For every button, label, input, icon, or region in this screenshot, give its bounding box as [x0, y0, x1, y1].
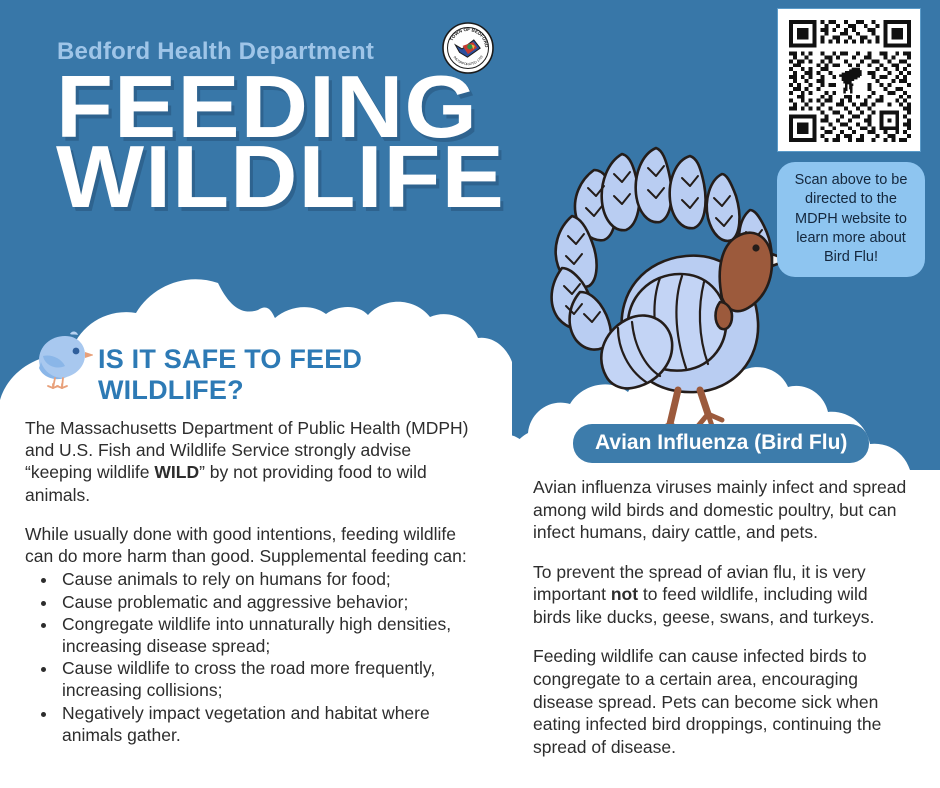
town-of-bedford-seal-icon: TOWN OF BEDFORD INCORPORATED 1729 [442, 22, 494, 74]
right-paragraph-2: To prevent the spread of avian flu, it i… [533, 561, 910, 629]
harm-list: Cause animals to rely on humans for food… [46, 568, 478, 746]
right-column: Avian Influenza (Bird Flu) Avian influen… [511, 424, 940, 758]
left-paragraph-1: The Massachusetts Department of Public H… [25, 417, 478, 506]
right-body: Avian influenza viruses mainly infect an… [533, 476, 910, 758]
dinosaur-icon [833, 66, 867, 96]
turkey-illustration-icon [510, 132, 790, 432]
right-paragraph-1: Avian influenza viruses mainly infect an… [533, 476, 910, 544]
qr-block: Scan above to be directed to the MDPH we… [777, 8, 925, 277]
list-item: Cause animals to rely on humans for food… [58, 568, 478, 590]
qr-scan-callout: Scan above to be directed to the MDPH we… [777, 162, 925, 277]
qr-frame [777, 8, 921, 152]
right-p2-bold: not [611, 584, 638, 604]
avian-influenza-badge: Avian Influenza (Bird Flu) [573, 424, 869, 463]
page-title: FEEDING WILDLIFE [56, 72, 501, 213]
left-column: IS IT SAFE TO FEED WILDLIFE? The Massach… [0, 318, 500, 746]
list-item: Congregate wildlife into unnaturally hig… [58, 613, 478, 657]
qr-code-icon[interactable] [785, 16, 915, 146]
left-p1-bold: WILD [154, 462, 199, 482]
left-body: The Massachusetts Department of Public H… [25, 417, 478, 746]
list-item: Cause problematic and aggressive behavio… [58, 591, 478, 613]
list-item: Cause wildlife to cross the road more fr… [58, 657, 478, 701]
title-line-2: WILDLIFE [56, 142, 501, 212]
list-item: Negatively impact vegetation and habitat… [58, 702, 478, 746]
small-bird-icon [31, 330, 93, 390]
safe-heading: IS IT SAFE TO FEED WILDLIFE? [98, 318, 500, 405]
left-paragraph-2: While usually done with good intentions,… [25, 523, 478, 567]
right-paragraph-3: Feeding wildlife can cause infected bird… [533, 645, 910, 758]
safe-heading-row: IS IT SAFE TO FEED WILDLIFE? [25, 318, 500, 405]
